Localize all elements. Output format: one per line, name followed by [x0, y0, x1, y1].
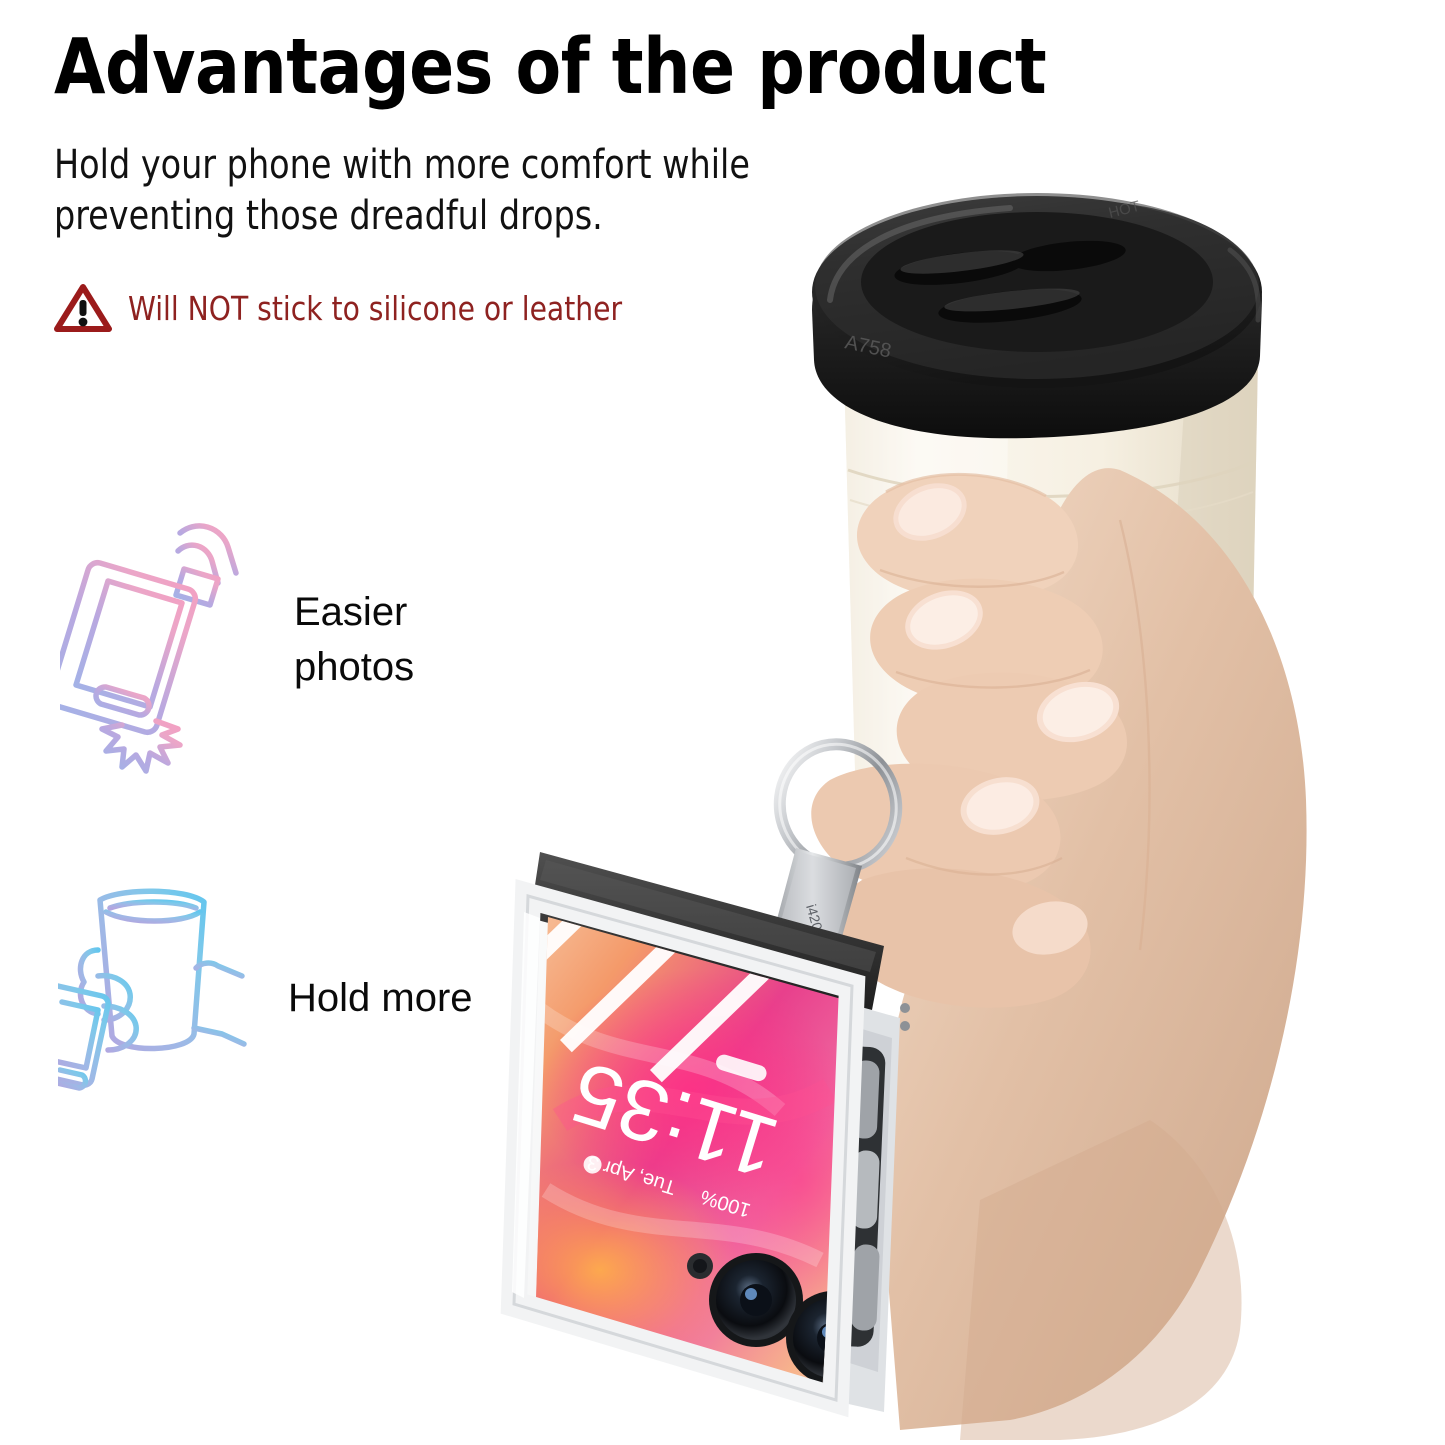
camera-module	[687, 1253, 880, 1385]
svg-text:84+PE: 84+PE	[971, 742, 993, 777]
screen-time: 11:35	[561, 1043, 789, 1196]
warning-triangle-icon	[54, 283, 112, 333]
feature-hold-more: Hold more	[58, 878, 473, 1118]
caution-line-3: 请勿用吸管!	[1070, 527, 1164, 563]
finger-ring-strap: i420	[767, 732, 910, 988]
svg-text:www.fsc.org: www.fsc.org	[1081, 724, 1137, 743]
cup-certification-block: 84+PE ld's Printed FSC www.fsc.org ®	[936, 643, 1167, 782]
product-advantages-infographic: ! 小心： 热饮烫口, 请勿用吸管! 0111-689) 好 80	[0, 0, 1445, 1445]
fingers	[811, 473, 1127, 1008]
feature-label-hold-more: Hold more	[288, 971, 473, 1026]
svg-text:好 80: 好 80	[941, 568, 967, 610]
caution-line-1: 小心：	[1067, 494, 1121, 523]
svg-text:HOT: HOT	[1107, 198, 1142, 222]
screen-date: Tue, Apr 3	[585, 1151, 679, 1199]
feature-label-easier-photos: Easier photos	[294, 585, 414, 695]
svg-text:!: !	[1049, 509, 1074, 555]
caution-line-2: 热饮烫口,	[1069, 510, 1145, 542]
warning-banner: Will NOT stick to silicone or leather	[54, 283, 648, 333]
cup-side-code: 0111-689) 好 80	[941, 563, 994, 640]
coffee-cup: ! 小心： 热饮烫口, 请勿用吸管! 0111-689) 好 80	[812, 193, 1262, 946]
flip-phone-with-case: 100% Tue, Apr 3 11:35	[460, 732, 950, 1420]
screen-battery: 100%	[698, 1185, 754, 1221]
hand-holding-cup-and-phone-icon	[58, 878, 258, 1118]
volume-rocker	[851, 1060, 880, 1229]
svg-text:®: ®	[1133, 649, 1142, 661]
hand	[811, 360, 1445, 1445]
strap-emboss-text: i420	[803, 902, 826, 932]
feature-easier-photos: Easier photos	[60, 505, 414, 775]
svg-text:0111-689): 0111-689)	[962, 563, 993, 636]
page-subtitle: Hold your phone with more comfort while …	[54, 140, 928, 242]
screen-film-stripes	[470, 732, 950, 1082]
lid-emboss-text: A758	[843, 331, 893, 362]
svg-text:FSC: FSC	[1076, 698, 1131, 732]
warning-text: Will NOT stick to silicone or leather	[128, 289, 622, 328]
cup-caution-label: ! 小心： 热饮烫口, 请勿用吸管!	[994, 487, 1165, 574]
svg-text:ld's Printed: ld's Printed	[1024, 683, 1058, 748]
power-button	[850, 1244, 880, 1331]
phone-with-ring-strap-camera-flash-icon	[60, 505, 250, 775]
phone-cover-screen: 100% Tue, Apr 3 11:35	[460, 732, 950, 1420]
cover-screen-text: 100% Tue, Apr 3 11:35	[553, 1016, 797, 1223]
page-title: Advantages of the product	[54, 26, 1187, 110]
